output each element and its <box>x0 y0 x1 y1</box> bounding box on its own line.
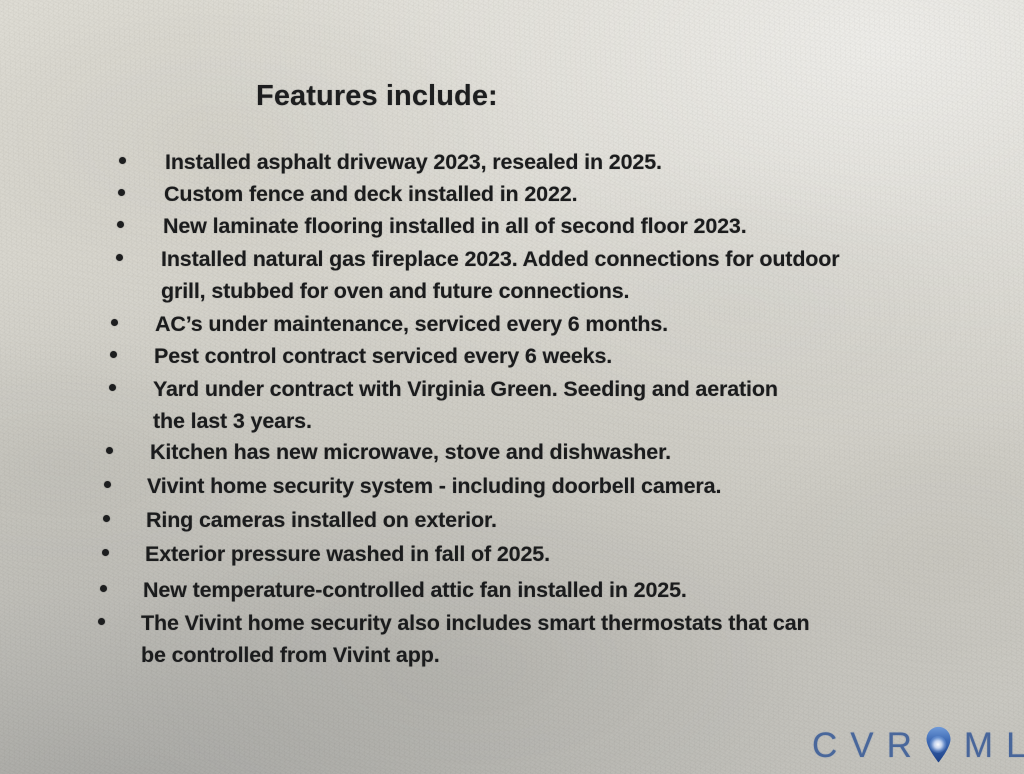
list-item-label: New temperature-controlled attic fan ins… <box>143 574 687 606</box>
list-item-label: Yard under contract with Virginia Green.… <box>153 373 778 437</box>
list-item-label: Ring cameras installed on exterior. <box>146 504 497 536</box>
list-item-label: Kitchen has new microwave, stove and dis… <box>150 436 671 468</box>
list-item-label: The Vivint home security also includes s… <box>141 607 810 671</box>
map-pin-icon <box>925 726 952 763</box>
list-item-label: AC’s under maintenance, serviced every 6… <box>155 308 668 340</box>
bullet-icon <box>119 157 126 164</box>
bullet-icon <box>111 319 118 326</box>
bullet-icon <box>109 384 116 391</box>
list-item-label: Pest control contract serviced every 6 w… <box>154 340 612 372</box>
bullet-icon <box>103 515 110 522</box>
watermark-letter: M <box>964 728 993 763</box>
page-title: Features include: <box>256 80 498 113</box>
watermark-letter: V <box>850 728 873 763</box>
list-item-label: Vivint home security system - including … <box>147 470 721 502</box>
cvrmls-watermark: C V R M L S <box>812 722 1024 768</box>
watermark-letter: C <box>812 728 837 763</box>
watermark-letter: L <box>1006 728 1024 763</box>
list-item-label: Custom fence and deck installed in 2022. <box>164 178 577 210</box>
list-item-label: Installed natural gas fireplace 2023. Ad… <box>161 243 840 307</box>
bullet-icon <box>106 447 113 454</box>
bullet-icon <box>98 618 105 625</box>
bullet-icon <box>118 189 125 196</box>
list-item-label: New laminate flooring installed in all o… <box>163 210 747 242</box>
bullet-icon <box>104 481 111 488</box>
list-item-label: Exterior pressure washed in fall of 2025… <box>145 538 550 570</box>
bullet-icon <box>117 221 124 228</box>
bullet-icon <box>116 254 123 261</box>
watermark-letter: R <box>887 728 912 763</box>
bullet-icon <box>102 549 109 556</box>
list-item-label: Installed asphalt driveway 2023, reseale… <box>165 146 662 178</box>
printed-content: Features include: Installed asphalt driv… <box>0 0 1024 774</box>
bullet-icon <box>110 351 117 358</box>
photographed-flyer: Features include: Installed asphalt driv… <box>0 0 1024 774</box>
bullet-icon <box>100 585 107 592</box>
